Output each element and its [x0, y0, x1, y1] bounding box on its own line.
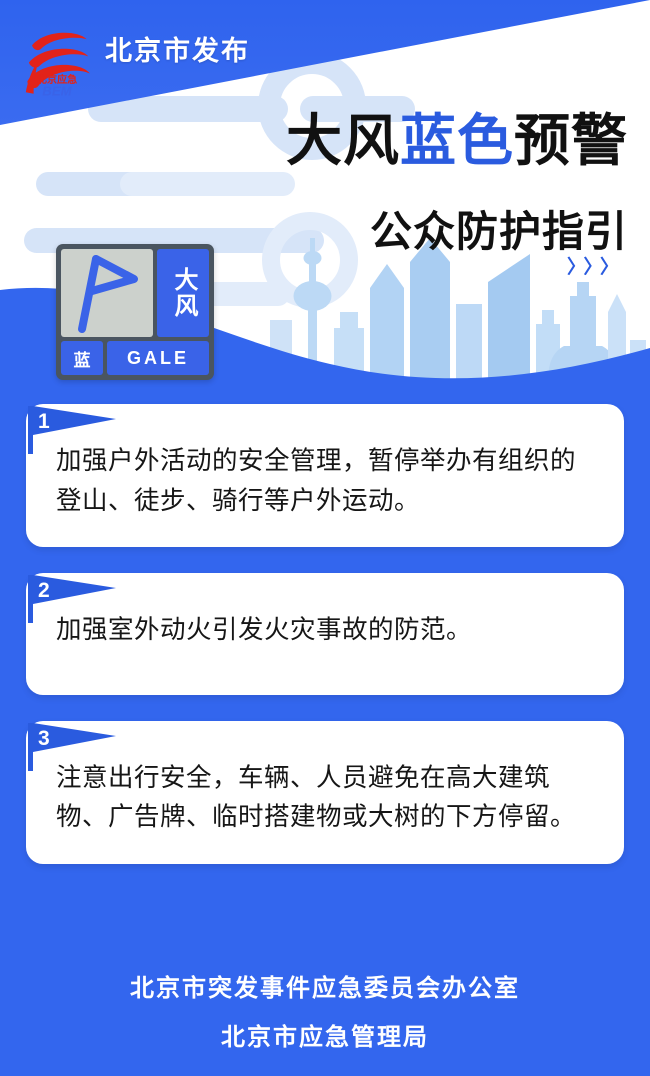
guidance-card-list: 1 加强户外活动的安全管理，暂停举办有组织的登山、徒步、骑行等户外运动。 2 加… — [0, 404, 650, 890]
card-number: 1 — [38, 410, 50, 434]
list-item: 3 注意出行安全，车辆、人员避免在高大建筑物、广告牌、临时搭建物或大树的下方停留… — [26, 721, 624, 864]
beijing-emergency-bem-logo-icon: 北京应急 BEM — [18, 22, 96, 100]
card-text: 加强室外动火引发火灾事故的防范。 — [56, 611, 594, 651]
wind-swirl-bar — [120, 172, 295, 196]
footer-org-line-1: 北京市突发事件应急委员会办公室 — [0, 968, 650, 1003]
headline-part1: 大风 — [286, 109, 400, 172]
footer-org-line-2: 北京市应急管理局 — [0, 1017, 650, 1052]
sign-hazard-label: 大风 — [157, 249, 209, 337]
card-text: 加强户外活动的安全管理，暂停举办有组织的登山、徒步、骑行等户外运动。 — [56, 442, 594, 521]
sign-bottom-row: 蓝 GALE — [61, 341, 209, 375]
gale-warning-sign: 大风 蓝 GALE — [56, 244, 214, 380]
page-title: 大风蓝色预警 — [286, 112, 628, 171]
sign-hazard-text: 大风 — [171, 267, 195, 319]
wind-flag-icon — [70, 251, 144, 335]
sign-top-row: 大风 — [61, 249, 209, 337]
card-text: 注意出行安全，车辆、人员避免在高大建筑物、广告牌、临时搭建物或大树的下方停留。 — [56, 759, 594, 838]
sign-level-cn: 蓝 — [61, 341, 103, 375]
publisher-title: 北京市发布 — [105, 29, 250, 68]
headline-part3: 预警 — [514, 109, 628, 172]
footer: 北京市突发事件应急委员会办公室 北京市应急管理局 — [0, 968, 650, 1052]
card-number: 2 — [38, 579, 50, 603]
poster-root: 北京应急 BEM 北京市发布 大风蓝色预警 公众防护指引 〉〉〉 大风 蓝 GA… — [0, 0, 650, 1076]
chevron-right-icon: 〉〉〉 — [567, 252, 626, 279]
svg-text:BEM: BEM — [42, 83, 72, 98]
sign-flag-panel — [61, 249, 153, 337]
headline-part2-blue: 蓝色 — [400, 109, 514, 172]
list-item: 2 加强室外动火引发火灾事故的防范。 — [26, 573, 624, 695]
card-number: 3 — [38, 727, 50, 751]
sign-level-en: GALE — [107, 341, 209, 375]
list-item: 1 加强户外活动的安全管理，暂停举办有组织的登山、徒步、骑行等户外运动。 — [26, 404, 624, 547]
page-subtitle: 公众防护指引 — [370, 198, 628, 259]
